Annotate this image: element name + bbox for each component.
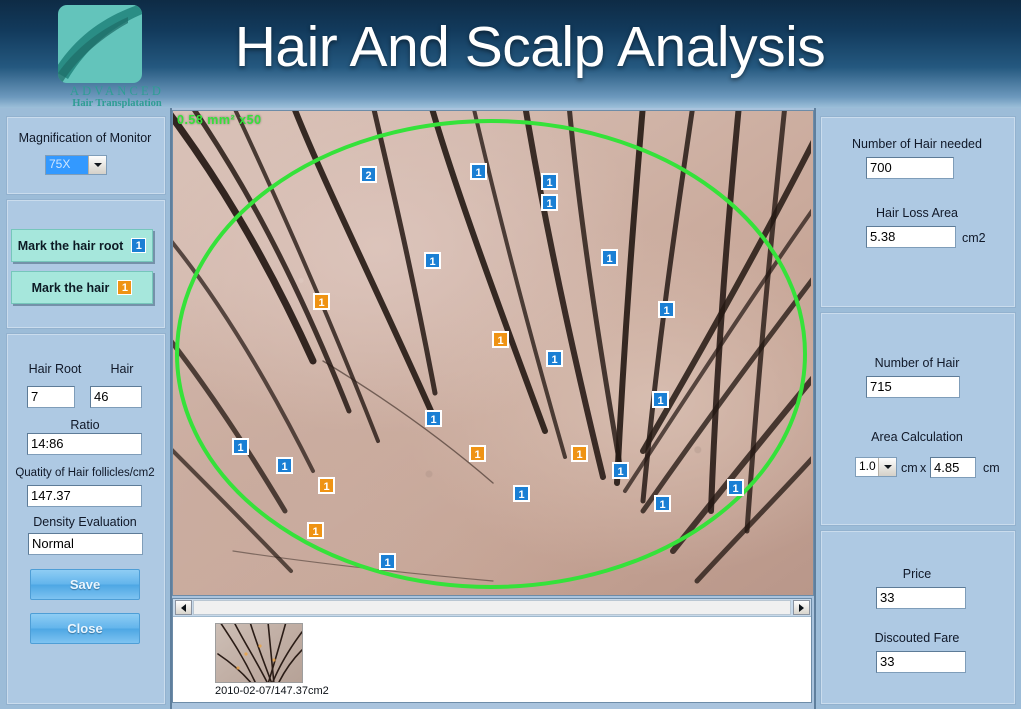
chevron-down-icon[interactable]	[878, 458, 896, 476]
hair-needed-label: Number of Hair needed	[820, 137, 1014, 151]
hair-root-badge-icon: 1	[131, 238, 146, 253]
scroll-left-icon[interactable]	[175, 600, 192, 615]
follicle-quantity-field[interactable]: 147.37	[27, 485, 142, 507]
area-width-select[interactable]: 1.0	[855, 457, 897, 477]
ratio-label: Ratio	[6, 418, 164, 432]
follicle-quantity-label: Quatity of Hair follicles/cm2	[2, 467, 168, 479]
app-header: ADVANCED Hair Transplatation Hair And Sc…	[0, 0, 1021, 108]
thumbnail-item[interactable]: 2010-02-07/147.37cm2	[215, 623, 303, 699]
mark-hair-root-label: Mark the hair root	[18, 239, 124, 253]
hair-marker-22[interactable]: 1	[307, 522, 324, 539]
thumbnail-scroll-bar[interactable]	[173, 599, 811, 617]
hair-loss-area-label: Hair Loss Area	[820, 206, 1014, 220]
scale-overlay-text: 0.58 mm² x50	[177, 113, 262, 127]
mark-hair-button[interactable]: Mark the hair 1	[11, 271, 153, 304]
hair-marker-23[interactable]: 1	[379, 553, 396, 570]
area-multiply-symbol: x	[920, 461, 926, 475]
hair-marker-4[interactable]: 1	[541, 194, 558, 211]
hair-marker-9[interactable]: 1	[492, 331, 509, 348]
thumbnail-hairs-icon	[216, 624, 303, 683]
hair-marker-21[interactable]: 1	[654, 495, 671, 512]
discounted-fare-field[interactable]: 33	[876, 651, 966, 673]
hair-marker-20[interactable]: 1	[513, 485, 530, 502]
hair-marker-16[interactable]: 1	[469, 445, 486, 462]
hair-marker-10[interactable]: 1	[546, 350, 563, 367]
hair-needed-field[interactable]: 700	[866, 157, 954, 179]
hair-marker-17[interactable]: 1	[571, 445, 588, 462]
hair-marker-14[interactable]: 1	[276, 457, 293, 474]
area-width-value: 1.0	[856, 458, 878, 476]
hair-loss-area-field[interactable]: 5.38	[866, 226, 956, 248]
density-evaluation-field[interactable]: Normal	[28, 533, 143, 555]
logo-brand-tagline: Hair Transplatation	[46, 98, 188, 108]
hair-count-field[interactable]: 46	[90, 386, 142, 408]
thumbnail-caption: 2010-02-07/147.37cm2	[215, 685, 303, 697]
hair-marker-8[interactable]: 1	[658, 301, 675, 318]
hair-marker-18[interactable]: 1	[612, 462, 629, 479]
area-height-field[interactable]: 4.85	[930, 457, 976, 478]
hair-marker-12[interactable]: 1	[425, 410, 442, 427]
hair-number-label: Number of Hair	[820, 356, 1014, 370]
magnification-value: 75X	[46, 156, 88, 174]
hair-scalp-analysis-window: ADVANCED Hair Transplatation Hair And Sc…	[0, 0, 1021, 709]
hair-badge-icon: 1	[117, 280, 132, 295]
save-button[interactable]: Save	[30, 569, 140, 600]
page-title: Hair And Scalp Analysis	[200, 14, 860, 80]
discounted-fare-label: Discouted Fare	[820, 631, 1014, 645]
price-label: Price	[820, 567, 1014, 581]
hair-loss-area-unit: cm2	[962, 231, 986, 245]
area-calculation-label: Area Calculation	[820, 430, 1014, 444]
hair-marker-1[interactable]: 2	[360, 166, 377, 183]
hair-marker-5[interactable]: 1	[424, 252, 441, 269]
pricing-panel	[820, 530, 1016, 705]
hair-count-label: Hair	[92, 362, 152, 376]
hair-marker-2[interactable]: 1	[470, 163, 487, 180]
thumbnail-image[interactable]	[215, 623, 303, 683]
hair-marker-7[interactable]: 1	[313, 293, 330, 310]
density-evaluation-label: Density Evaluation	[6, 515, 164, 529]
hair-root-label: Hair Root	[20, 362, 90, 376]
brand-logo: ADVANCED Hair Transplatation	[46, 3, 188, 107]
hair-number-field[interactable]: 715	[866, 376, 960, 398]
thumbnail-strip: 2010-02-07/147.37cm2	[172, 598, 812, 703]
mark-hair-label: Mark the hair	[32, 281, 110, 295]
thumbnail-scroll-track[interactable]	[193, 600, 791, 615]
chevron-down-icon[interactable]	[88, 156, 106, 174]
scroll-right-icon[interactable]	[793, 600, 810, 615]
hair-marker-15[interactable]: 1	[318, 477, 335, 494]
hair-marker-13[interactable]: 1	[232, 438, 249, 455]
hair-number-panel	[820, 312, 1016, 526]
hair-root-field[interactable]: 7	[27, 386, 75, 408]
price-field[interactable]: 33	[876, 587, 966, 609]
hair-marker-6[interactable]: 1	[601, 249, 618, 266]
ratio-field[interactable]: 14:86	[27, 433, 142, 455]
close-button[interactable]: Close	[30, 613, 140, 644]
area-height-unit: cm	[983, 461, 1000, 475]
hair-marker-3[interactable]: 1	[541, 173, 558, 190]
hair-marker-19[interactable]: 1	[727, 479, 744, 496]
scalp-image-viewer[interactable]: 0.58 mm² x50 21111111111111111111111	[172, 110, 814, 596]
logo-brand-name: ADVANCED	[46, 84, 188, 99]
hair-strands-overlay	[173, 111, 811, 593]
hair-marker-11[interactable]: 1	[652, 391, 669, 408]
mark-tools-panel	[6, 199, 166, 329]
mark-hair-root-button[interactable]: Mark the hair root 1	[11, 229, 153, 262]
magnification-label: Magnification of Monitor	[6, 131, 164, 145]
area-width-unit: cm	[901, 461, 918, 475]
magnification-select[interactable]: 75X	[45, 155, 107, 175]
logo-swoosh-icon	[58, 5, 142, 83]
